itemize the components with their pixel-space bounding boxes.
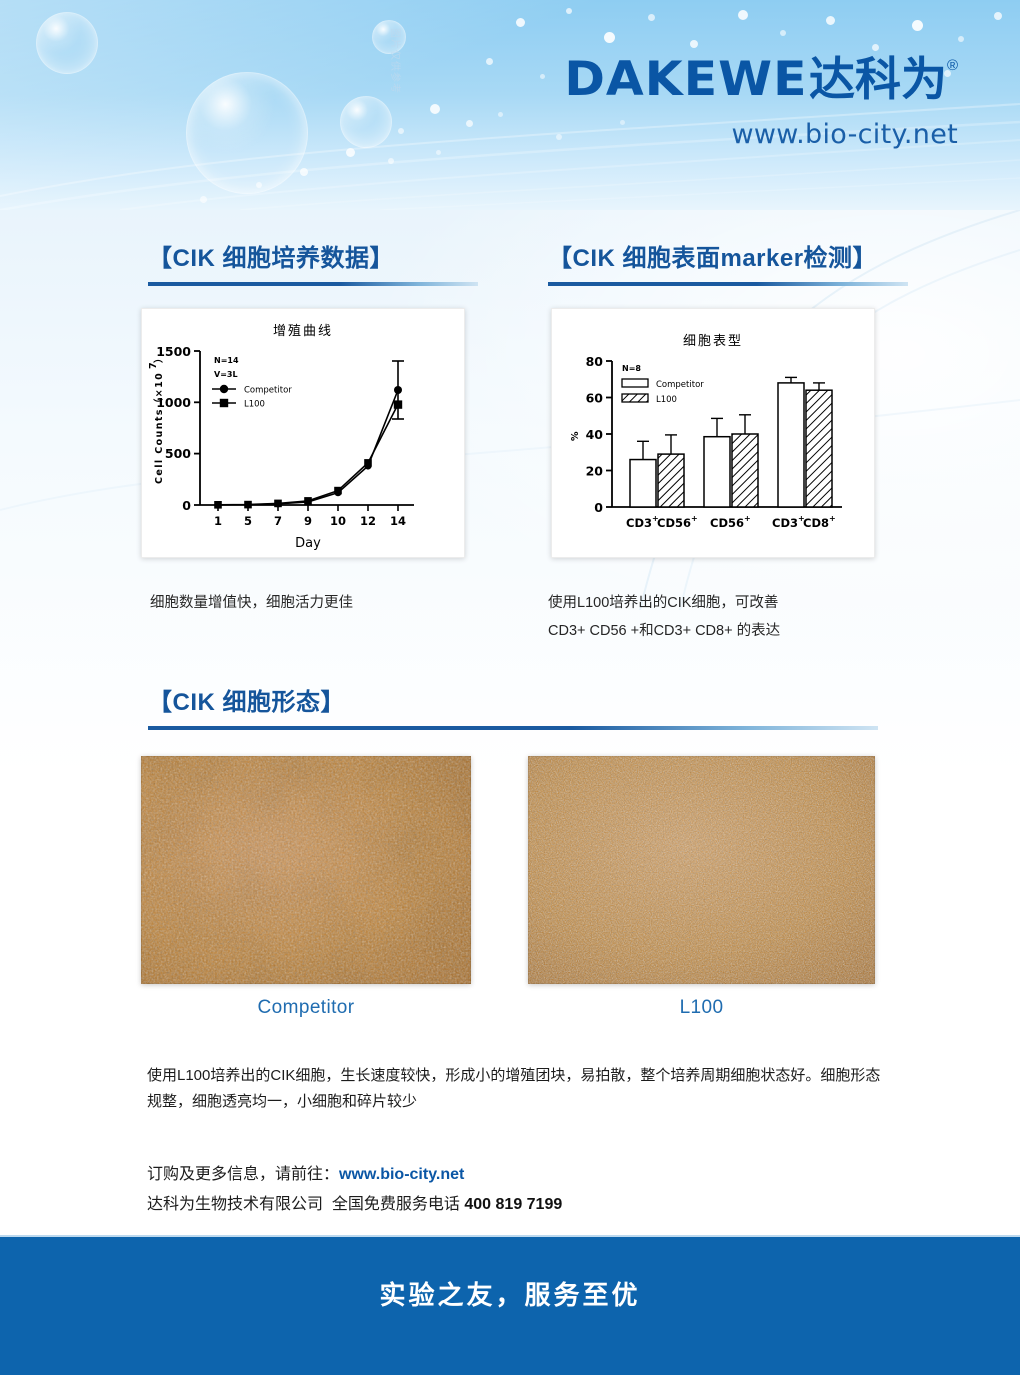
y-tick-0: 0 bbox=[594, 500, 603, 515]
x-tick-7: 7 bbox=[274, 514, 282, 528]
annotation-v: V=3L bbox=[214, 370, 238, 379]
section-divider bbox=[148, 726, 878, 730]
section-divider bbox=[548, 282, 908, 286]
x-tick-12: 12 bbox=[360, 514, 376, 528]
bar-competitor-cd56 bbox=[704, 437, 730, 507]
section-title: 【CIK 细胞表面marker检测】 bbox=[548, 238, 908, 273]
x-tick-9: 9 bbox=[304, 514, 312, 528]
bar-l100-cd3cd8 bbox=[806, 390, 832, 507]
order-info-website-link[interactable]: www.bio-city.net bbox=[339, 1166, 464, 1183]
svg-text:+: + bbox=[829, 514, 836, 523]
svg-text:+: + bbox=[744, 514, 751, 523]
micrograph-competitor-image bbox=[141, 756, 471, 984]
brochure-page: 图片仅供参考 DAKEWE 达科为 ® www.bio-city.net 【CI… bbox=[0, 0, 1020, 1375]
hotline-number: 400 819 7199 bbox=[464, 1196, 562, 1213]
bubble-decoration bbox=[340, 96, 392, 148]
chart-title: 增殖曲线 bbox=[273, 323, 333, 338]
legend-label-l100: L100 bbox=[656, 395, 677, 405]
section-heading-cik-morphology: 【CIK 细胞形态】 bbox=[148, 682, 878, 730]
legend-label-competitor: Competitor bbox=[244, 386, 292, 396]
x-tick-1: 1 bbox=[214, 514, 222, 528]
y-tick-0: 0 bbox=[182, 498, 191, 513]
x-tick-5: 5 bbox=[244, 514, 252, 528]
logo-latin-text: DAKEWE bbox=[564, 56, 807, 103]
proliferation-curve-chart: 增殖曲线 1500 1000 500 0 Cell Counts（×10 7 ）… bbox=[142, 309, 464, 557]
annotation-n: N=8 bbox=[622, 364, 641, 373]
caption-left-chart: 细胞数量增值快，细胞活力更佳 bbox=[150, 592, 530, 616]
svg-text:CD3: CD3 bbox=[626, 516, 652, 530]
legend-label-l100: L100 bbox=[244, 400, 265, 410]
company-logo: DAKEWE 达科为 ® www.bio-city.net bbox=[569, 56, 958, 150]
x-tick-10: 10 bbox=[330, 514, 346, 528]
y-tick-500: 500 bbox=[165, 446, 191, 461]
bubble-decoration bbox=[186, 72, 308, 194]
svg-text:+: + bbox=[691, 514, 698, 523]
order-info-line2: 达科为生物技术有限公司 全国免费服务电话 400 819 7199 bbox=[147, 1190, 907, 1220]
bar-l100-cd56 bbox=[732, 434, 758, 507]
y-axis-label: Cell Counts（×10 bbox=[153, 372, 165, 484]
caption-right-chart-line1: 使用L100培养出的CIK细胞，可改善 bbox=[548, 592, 948, 616]
y-tick-80: 80 bbox=[586, 354, 604, 369]
x-category-cd3cd56: CD3 + CD56 + bbox=[626, 514, 698, 530]
x-category-cd3cd8: CD3 + CD8 + bbox=[772, 514, 836, 530]
y-tick-60: 60 bbox=[586, 391, 604, 406]
registered-trademark-icon: ® bbox=[947, 58, 958, 73]
bar-competitor-cd3cd56 bbox=[630, 460, 656, 507]
company-name: 达科为生物技术有限公司 bbox=[147, 1196, 323, 1213]
legend-label-competitor: Competitor bbox=[656, 380, 704, 390]
section-heading-cik-culture-data: 【CIK 细胞培养数据】 bbox=[148, 238, 478, 286]
y-axis-label-close: ） bbox=[153, 352, 165, 363]
header-website-url[interactable]: www.bio-city.net bbox=[569, 119, 958, 150]
section-divider bbox=[148, 282, 478, 286]
caption-right-chart-line2: CD3+ CD56 +和CD3+ CD8+ 的表达 bbox=[548, 620, 948, 644]
section-heading-cik-surface-marker: 【CIK 细胞表面marker检测】 bbox=[548, 238, 908, 286]
chart-card-cell-phenotype: 细胞表型 80 60 40 20 0 % N=8 Competitor L100 bbox=[551, 308, 875, 558]
hotline-label: 全国免费服务电话 bbox=[332, 1196, 460, 1213]
svg-text:CD56: CD56 bbox=[710, 516, 744, 530]
y-axis-label: % bbox=[570, 430, 581, 441]
morphology-description: 使用L100培养出的CIK细胞，生长速度较快，形成小的增殖团块，易拍散，整个培养… bbox=[147, 1063, 882, 1115]
x-axis-label: Day bbox=[295, 536, 321, 551]
svg-text:CD3: CD3 bbox=[772, 516, 798, 530]
footer-banner: 实验之友，服务至优 bbox=[0, 1235, 1020, 1375]
micrograph-l100 bbox=[528, 756, 875, 984]
micrograph-l100-image bbox=[528, 756, 875, 984]
order-info-block: 订购及更多信息，请前往：www.bio-city.net 达科为生物技术有限公司… bbox=[147, 1160, 907, 1219]
y-tick-20: 20 bbox=[586, 464, 604, 479]
header-side-text: 图片仅供参考 bbox=[389, 28, 404, 98]
micrograph-label-l100: L100 bbox=[528, 997, 875, 1019]
y-tick-40: 40 bbox=[586, 427, 604, 442]
chart-title: 细胞表型 bbox=[683, 333, 743, 348]
micrograph-competitor bbox=[141, 756, 471, 984]
bubble-decoration bbox=[36, 12, 98, 74]
annotation-n: N=14 bbox=[214, 356, 239, 365]
bar-l100-cd3cd56 bbox=[658, 454, 684, 507]
section-title: 【CIK 细胞形态】 bbox=[148, 682, 878, 717]
logo-chinese-text: 达科为 bbox=[809, 56, 947, 102]
header-banner: 图片仅供参考 DAKEWE 达科为 ® www.bio-city.net bbox=[0, 0, 1020, 210]
order-info-prefix: 订购及更多信息，请前往： bbox=[147, 1166, 339, 1183]
chart-card-proliferation-curve: 增殖曲线 1500 1000 500 0 Cell Counts（×10 7 ）… bbox=[141, 308, 465, 558]
svg-text:CD56: CD56 bbox=[657, 516, 691, 530]
footer-slogan: 实验之友，服务至优 bbox=[0, 1275, 1020, 1312]
svg-text:CD8: CD8 bbox=[803, 516, 829, 530]
section-title: 【CIK 细胞培养数据】 bbox=[148, 238, 478, 273]
order-info-line1: 订购及更多信息，请前往：www.bio-city.net bbox=[147, 1160, 907, 1190]
cell-phenotype-chart: 细胞表型 80 60 40 20 0 % N=8 Competitor L100 bbox=[552, 309, 874, 557]
x-category-cd56: CD56 + bbox=[710, 514, 751, 530]
x-tick-14: 14 bbox=[390, 514, 406, 528]
micrograph-label-competitor: Competitor bbox=[141, 997, 471, 1019]
bar-competitor-cd3cd8 bbox=[778, 383, 804, 507]
